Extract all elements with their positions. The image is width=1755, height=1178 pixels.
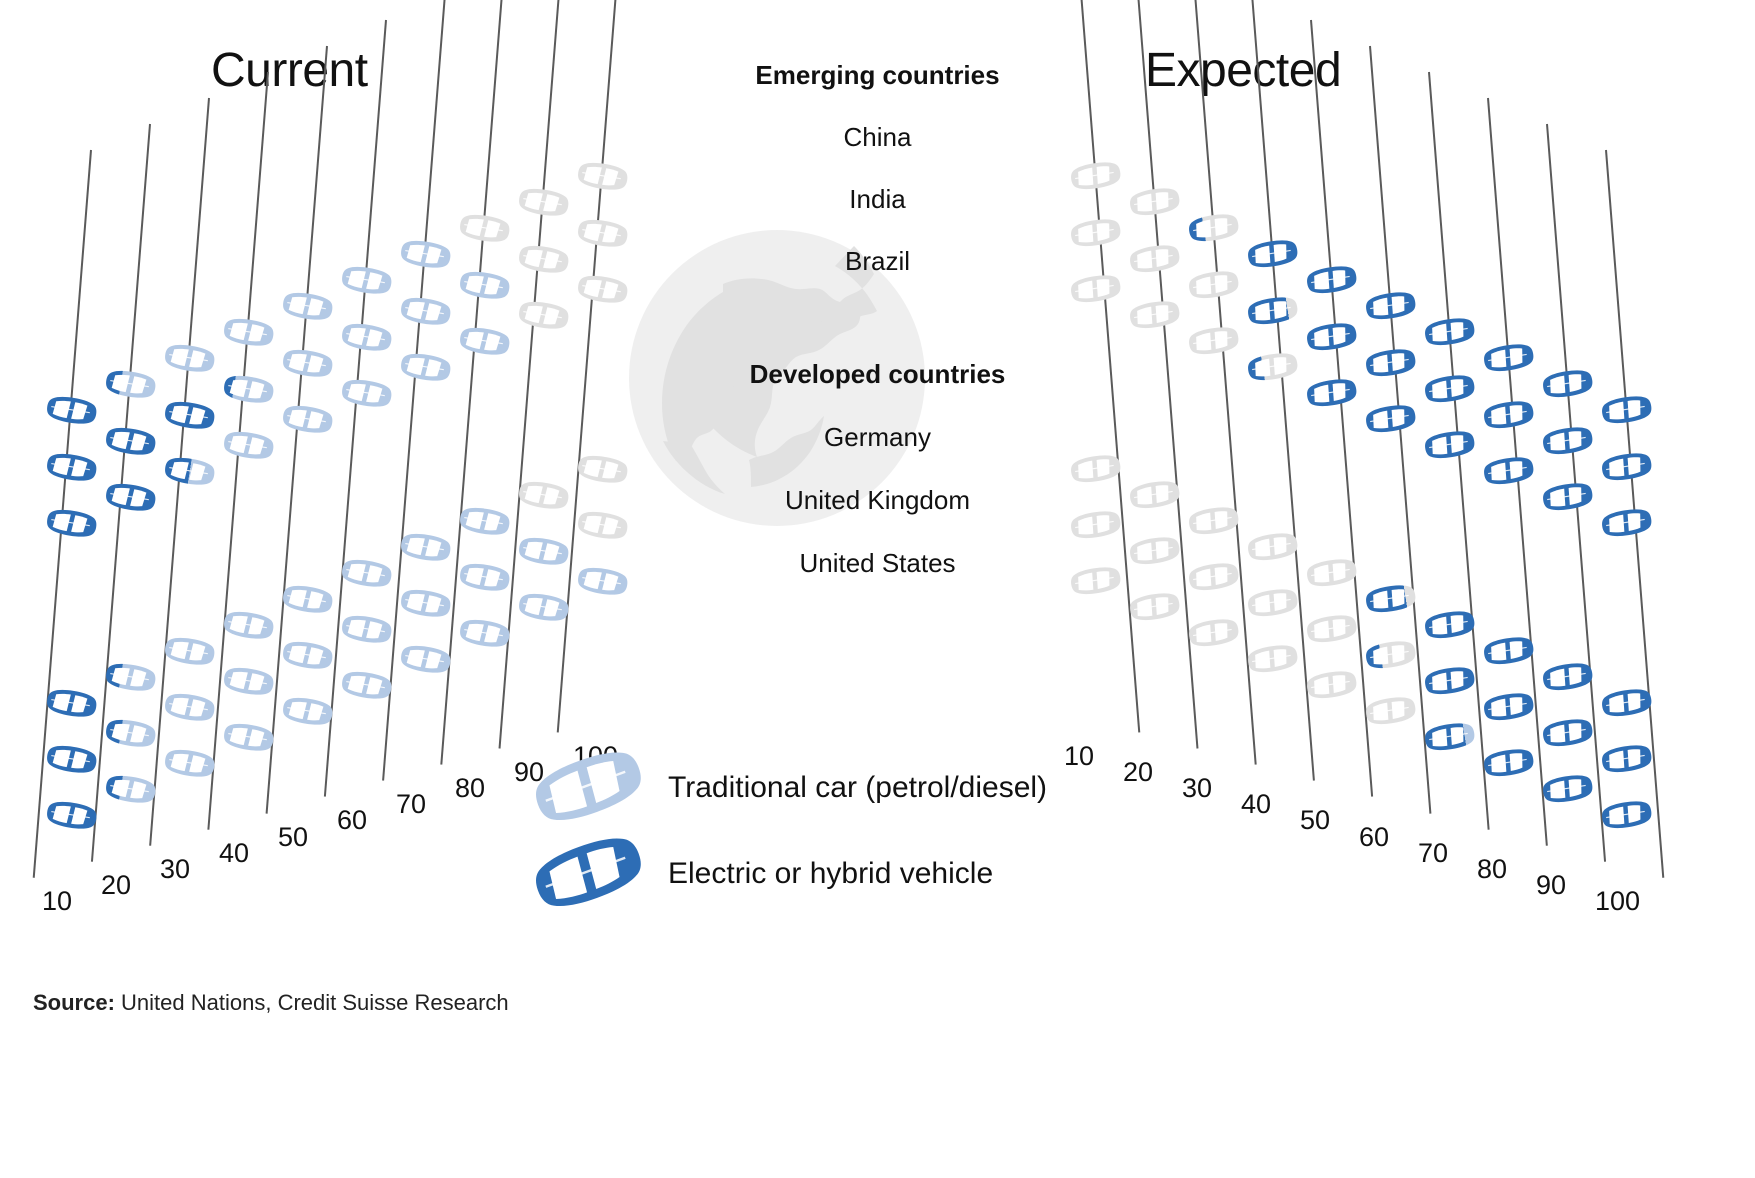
- group-heading-developed: Developed countries: [600, 359, 1155, 390]
- car-empty-left-brazil-90: [510, 295, 574, 334]
- traditional-car-icon: [520, 755, 650, 821]
- car-traditional-left-brazil-60: [333, 373, 397, 412]
- car-traditional-left-united-kingdom-60: [333, 609, 397, 648]
- car-electric-partial-left-china-20: [97, 364, 161, 403]
- axis-tick-left-70: 70: [396, 789, 426, 820]
- car-electric-right-china-40: [1239, 234, 1303, 273]
- source-note: Source: United Nations, Credit Suisse Re…: [33, 990, 509, 1016]
- car-electric-right-united-kingdom-70: [1416, 661, 1480, 700]
- group-heading-emerging: Emerging countries: [600, 60, 1155, 91]
- car-electric-partial-right-germany-60: [1357, 579, 1421, 618]
- car-empty-left-india-90: [510, 239, 574, 278]
- car-empty-right-united-kingdom-50: [1298, 609, 1362, 648]
- country-label-united-states: United States: [600, 548, 1155, 579]
- centre-country-labels: Emerging countries China India Brazil De…: [600, 50, 1155, 579]
- car-empty-right-germany-30: [1180, 501, 1244, 540]
- car-traditional-left-united-states-80: [451, 613, 515, 652]
- car-empty-right-united-kingdom-30: [1180, 557, 1244, 596]
- car-traditional-left-brazil-70: [392, 347, 456, 386]
- car-traditional-left-germany-80: [451, 501, 515, 540]
- car-electric-right-india-80: [1475, 395, 1539, 434]
- car-traditional-left-china-60: [333, 260, 397, 299]
- axis-tick-right-60: 60: [1359, 822, 1389, 853]
- car-electric-left-germany-10: [38, 683, 102, 722]
- car-traditional-left-united-states-90: [510, 587, 574, 626]
- car-empty-left-germany-90: [510, 475, 574, 514]
- car-electric-right-india-50: [1298, 317, 1362, 356]
- country-label-brazil: Brazil: [600, 246, 1155, 277]
- axis-tick-left-50: 50: [278, 822, 308, 853]
- car-electric-right-united-states-100: [1593, 795, 1657, 834]
- car-electric-left-brazil-20: [97, 477, 161, 516]
- car-electric-partial-right-brazil-40: [1239, 347, 1303, 386]
- source-label: Source:: [33, 990, 115, 1015]
- car-traditional-left-united-states-60: [333, 665, 397, 704]
- car-traditional-left-india-80: [451, 265, 515, 304]
- car-electric-right-china-80: [1475, 338, 1539, 377]
- country-label-united-kingdom: United Kingdom: [600, 485, 1155, 516]
- axis-tick-right-70: 70: [1418, 838, 1448, 869]
- car-electric-left-united-kingdom-10: [38, 739, 102, 778]
- car-traditional-left-germany-30: [156, 631, 220, 670]
- car-electric-partial-left-germany-20: [97, 657, 161, 696]
- car-electric-right-united-kingdom-90: [1534, 713, 1598, 752]
- axis-tick-right-30: 30: [1182, 773, 1212, 804]
- source-text: United Nations, Credit Suisse Research: [121, 990, 509, 1015]
- car-electric-right-germany-80: [1475, 631, 1539, 670]
- car-traditional-left-brazil-80: [451, 321, 515, 360]
- car-electric-right-brazil-90: [1534, 477, 1598, 516]
- car-electric-partial-left-india-40: [215, 369, 279, 408]
- car-electric-right-united-kingdom-100: [1593, 739, 1657, 778]
- car-electric-right-brazil-80: [1475, 451, 1539, 490]
- car-empty-right-india-30: [1180, 265, 1244, 304]
- car-electric-right-china-70: [1416, 312, 1480, 351]
- car-traditional-left-united-kingdom-40: [215, 661, 279, 700]
- axis-tick-right-20: 20: [1123, 757, 1153, 788]
- car-electric-right-india-100: [1593, 447, 1657, 486]
- car-traditional-left-united-states-70: [392, 639, 456, 678]
- car-traditional-left-germany-50: [274, 579, 338, 618]
- car-electric-partial-left-united-kingdom-20: [97, 713, 161, 752]
- car-electric-right-brazil-100: [1593, 503, 1657, 542]
- axis-tick-right-80: 80: [1477, 854, 1507, 885]
- country-label-germany: Germany: [600, 422, 1155, 453]
- car-traditional-left-united-kingdom-90: [510, 531, 574, 570]
- car-traditional-left-china-70: [392, 234, 456, 273]
- car-electric-partial-right-china-30: [1180, 208, 1244, 247]
- car-empty-right-germany-40: [1239, 527, 1303, 566]
- car-electric-partial-right-united-states-70: [1416, 717, 1480, 756]
- car-electric-right-india-60: [1357, 343, 1421, 382]
- axis-tick-right-90: 90: [1536, 870, 1566, 901]
- car-traditional-left-united-kingdom-70: [392, 583, 456, 622]
- car-electric-right-china-60: [1357, 286, 1421, 325]
- legend-label-electric: Electric or hybrid vehicle: [668, 857, 993, 891]
- car-electric-right-china-50: [1298, 260, 1362, 299]
- car-empty-right-united-states-40: [1239, 639, 1303, 678]
- car-empty-right-united-states-20: [1121, 587, 1185, 626]
- car-traditional-left-india-70: [392, 291, 456, 330]
- infographic-canvas: Current Expected Emerging countries Chin…: [0, 0, 1755, 1178]
- axis-tick-left-60: 60: [337, 805, 367, 836]
- car-traditional-left-india-50: [274, 343, 338, 382]
- car-electric-right-united-states-80: [1475, 743, 1539, 782]
- car-traditional-left-united-states-40: [215, 717, 279, 756]
- car-empty-right-united-states-30: [1180, 613, 1244, 652]
- car-electric-partial-left-brazil-30: [156, 451, 220, 490]
- car-electric-partial-right-india-40: [1239, 291, 1303, 330]
- car-electric-right-united-states-90: [1534, 769, 1598, 808]
- axis-tick-right-50: 50: [1300, 805, 1330, 836]
- car-traditional-left-united-kingdom-30: [156, 687, 220, 726]
- car-empty-right-brazil-30: [1180, 321, 1244, 360]
- car-electric-left-united-states-10: [38, 795, 102, 834]
- axis-tick-right-10: 10: [1064, 741, 1094, 772]
- country-label-india: India: [600, 184, 1155, 215]
- car-empty-right-united-kingdom-40: [1239, 583, 1303, 622]
- car-electric-partial-right-united-kingdom-60: [1357, 635, 1421, 674]
- car-traditional-left-germany-60: [333, 553, 397, 592]
- car-electric-partial-left-united-states-20: [97, 769, 161, 808]
- axis-tick-left-10: 10: [42, 886, 72, 917]
- axis-tick-left-20: 20: [101, 870, 131, 901]
- car-traditional-left-united-kingdom-50: [274, 635, 338, 674]
- car-traditional-left-india-60: [333, 317, 397, 356]
- car-electric-right-germany-90: [1534, 657, 1598, 696]
- car-electric-right-brazil-60: [1357, 399, 1421, 438]
- car-traditional-left-germany-70: [392, 527, 456, 566]
- axis-tick-right-100: 100: [1595, 886, 1640, 917]
- country-label-china: China: [600, 122, 1155, 153]
- car-traditional-left-brazil-40: [215, 425, 279, 464]
- car-electric-left-brazil-10: [38, 503, 102, 542]
- axis-tick-left-80: 80: [455, 773, 485, 804]
- car-empty-left-china-80: [451, 208, 515, 247]
- car-traditional-left-china-30: [156, 338, 220, 377]
- car-electric-right-germany-100: [1593, 683, 1657, 722]
- car-electric-right-china-90: [1534, 364, 1598, 403]
- car-traditional-left-brazil-50: [274, 399, 338, 438]
- car-electric-right-brazil-50: [1298, 373, 1362, 412]
- car-electric-right-china-100: [1593, 390, 1657, 429]
- car-empty-left-china-90: [510, 182, 574, 221]
- car-traditional-left-china-40: [215, 312, 279, 351]
- car-empty-right-united-states-60: [1357, 691, 1421, 730]
- car-traditional-left-germany-40: [215, 605, 279, 644]
- axis-tick-right-40: 40: [1241, 789, 1271, 820]
- legend-label-traditional: Traditional car (petrol/diesel): [668, 771, 1047, 805]
- car-electric-right-brazil-70: [1416, 425, 1480, 464]
- car-electric-left-india-30: [156, 395, 220, 434]
- panel-title-current: Current: [211, 43, 368, 98]
- car-empty-right-united-states-50: [1298, 665, 1362, 704]
- car-electric-left-china-10: [38, 390, 102, 429]
- car-electric-right-india-70: [1416, 369, 1480, 408]
- car-traditional-left-china-50: [274, 286, 338, 325]
- car-traditional-left-united-kingdom-80: [451, 557, 515, 596]
- car-empty-right-germany-50: [1298, 553, 1362, 592]
- car-traditional-left-united-states-50: [274, 691, 338, 730]
- car-electric-right-united-kingdom-80: [1475, 687, 1539, 726]
- axis-tick-left-30: 30: [160, 854, 190, 885]
- car-electric-left-india-10: [38, 447, 102, 486]
- axis-tick-left-40: 40: [219, 838, 249, 869]
- electric-car-icon: [520, 841, 650, 907]
- car-electric-left-india-20: [97, 421, 161, 460]
- car-electric-right-india-90: [1534, 421, 1598, 460]
- car-traditional-left-united-states-30: [156, 743, 220, 782]
- car-electric-right-germany-70: [1416, 605, 1480, 644]
